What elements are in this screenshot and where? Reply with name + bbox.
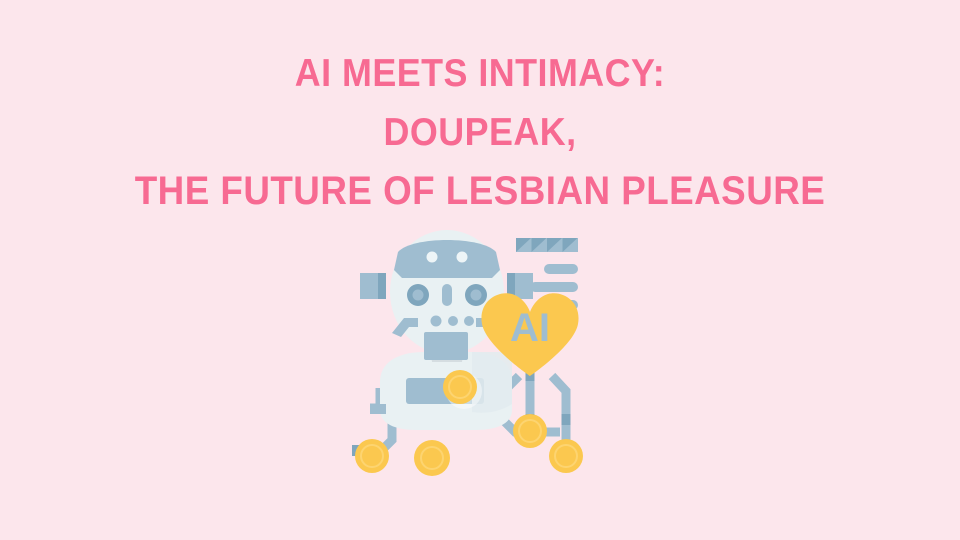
title-line-1: AI MEETS INTIMACY: — [38, 44, 921, 103]
slide-canvas: AI MEETS INTIMACY: DOUPEAK, THE FUTURE O… — [0, 0, 960, 540]
robot-body — [370, 352, 512, 430]
sawtooth-bar-icon — [516, 238, 578, 252]
title-line-2: DOUPEAK, — [38, 103, 921, 162]
page-title: AI MEETS INTIMACY: DOUPEAK, THE FUTURE O… — [0, 44, 960, 221]
ai-robot-illustration: AI — [352, 228, 602, 476]
heart-ai-label: AI — [510, 306, 550, 350]
title-line-3: THE FUTURE OF LESBIAN PLEASURE — [38, 162, 921, 221]
